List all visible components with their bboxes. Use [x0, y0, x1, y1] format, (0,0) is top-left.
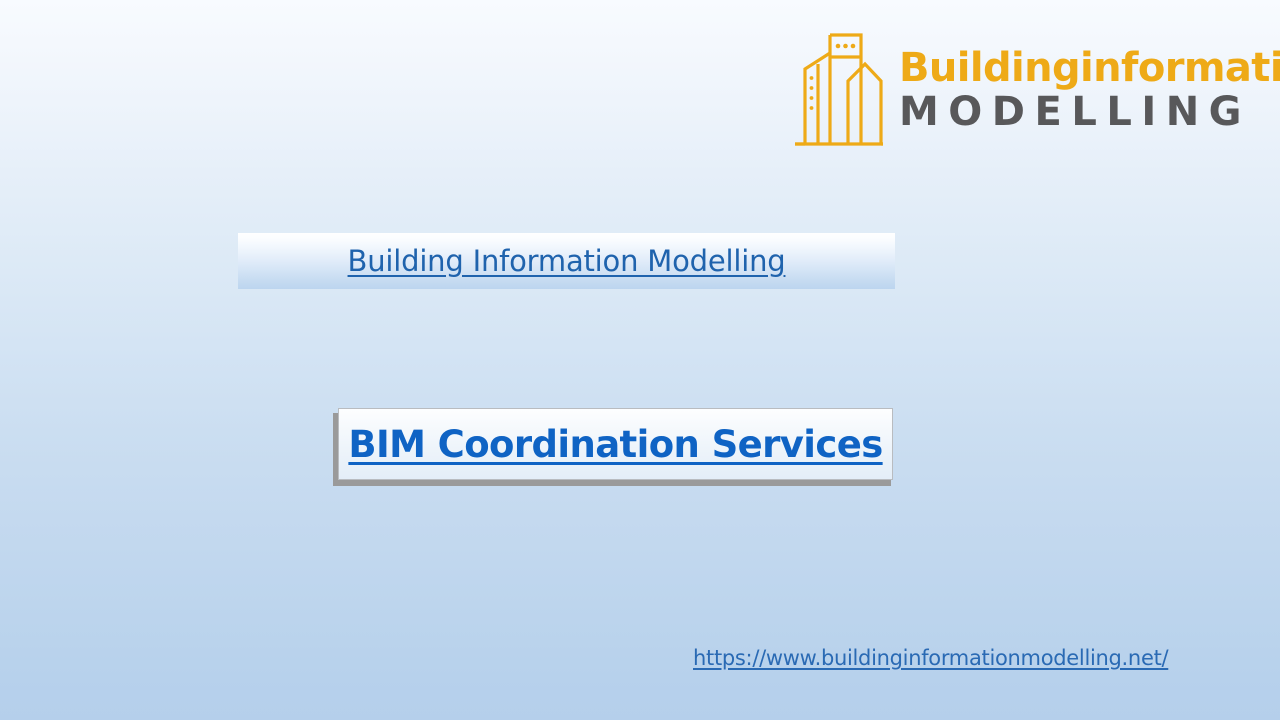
slide-canvas: Buildinginformation MODELLING Building I… — [0, 0, 1280, 720]
cta-link-text[interactable]: BIM Coordination Services — [348, 423, 882, 466]
brand-wordmark-line2: MODELLING — [899, 91, 1251, 133]
cta-link-box-wrapper: BIM Coordination Services — [333, 408, 893, 486]
primary-link-box[interactable]: Building Information Modelling — [238, 233, 895, 289]
cta-link-box[interactable]: BIM Coordination Services — [338, 408, 893, 480]
brand-logo: Buildinginformation MODELLING — [793, 26, 1245, 154]
brand-wordmark-line1: Buildinginformation — [899, 48, 1280, 89]
brand-wordmark: Buildinginformation MODELLING — [899, 26, 1280, 133]
footer-website-url[interactable]: https://www.buildinginformationmodelling… — [693, 646, 1168, 670]
building-skyline-icon — [793, 26, 885, 152]
primary-link-text[interactable]: Building Information Modelling — [348, 244, 786, 278]
